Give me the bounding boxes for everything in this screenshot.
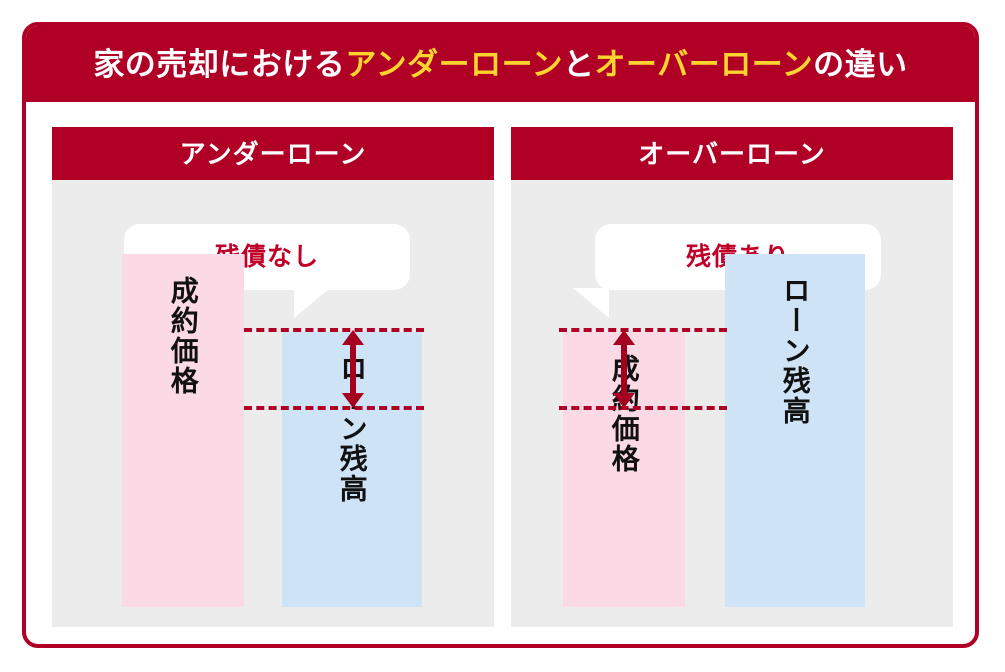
arrow-head-down-icon (613, 393, 635, 408)
title-conjunction: と (563, 47, 595, 82)
panel-title-over-loan: オーバーローン (638, 141, 825, 167)
infographic-root: 家の売却におけるアンダーローンとオーバーローンの違い アンダーローン 残債なし (0, 0, 1005, 672)
title-bar: 家の売却におけるアンダーローンとオーバーローンの違い (26, 26, 975, 102)
bar-label-loan-balance: ローン残高 (780, 276, 809, 426)
arrow-head-up-icon (613, 330, 635, 345)
title-term-over-loan: オーバーローン (595, 47, 814, 82)
page-title: 家の売却におけるアンダーローンとオーバーローンの違い (93, 49, 907, 80)
panel-header-under-loan: アンダーローン (52, 127, 494, 180)
infographic-card: 家の売却におけるアンダーローンとオーバーローンの違い アンダーローン 残債なし (22, 22, 979, 648)
panel-header-over-loan: オーバーローン (511, 127, 953, 180)
bar-sale-price-under-loan: 成約価格 (122, 254, 244, 607)
panel-body-under-loan: 残債なし 成約価格 ローン残高 (52, 180, 494, 627)
arrow-head-down-icon (342, 393, 364, 408)
arrow-head-up-icon (342, 330, 364, 345)
gap-arrow-under-loan (342, 330, 364, 408)
panel-title-under-loan: アンダーローン (180, 141, 367, 167)
panel-body-over-loan: 残債あり 成約価格 ローン残高 (511, 180, 953, 627)
title-prefix: 家の売却における (93, 47, 345, 82)
panel-under-loan: アンダーローン 残債なし 成約価格 (52, 127, 494, 627)
gap-arrow-over-loan (613, 330, 635, 408)
panel-over-loan: オーバーローン 残債あり 成約価格 (511, 127, 953, 627)
title-suffix: の違い (813, 47, 908, 82)
chart-under-loan: 成約価格 ローン残高 (52, 180, 494, 627)
chart-over-loan: 成約価格 ローン残高 (511, 180, 953, 627)
bar-loan-balance-over-loan: ローン残高 (725, 254, 865, 607)
arrow-shaft (621, 340, 627, 398)
guide-line-upper-under-loan (244, 328, 424, 332)
bar-label-sale-price: 成約価格 (168, 276, 197, 396)
comparison-panels: アンダーローン 残債なし 成約価格 (52, 127, 953, 627)
guide-line-upper-over-loan (559, 328, 727, 332)
title-term-under-loan: アンダーローン (345, 47, 563, 82)
guide-line-lower-over-loan (559, 406, 727, 410)
guide-line-lower-under-loan (244, 406, 424, 410)
arrow-shaft (350, 340, 356, 398)
